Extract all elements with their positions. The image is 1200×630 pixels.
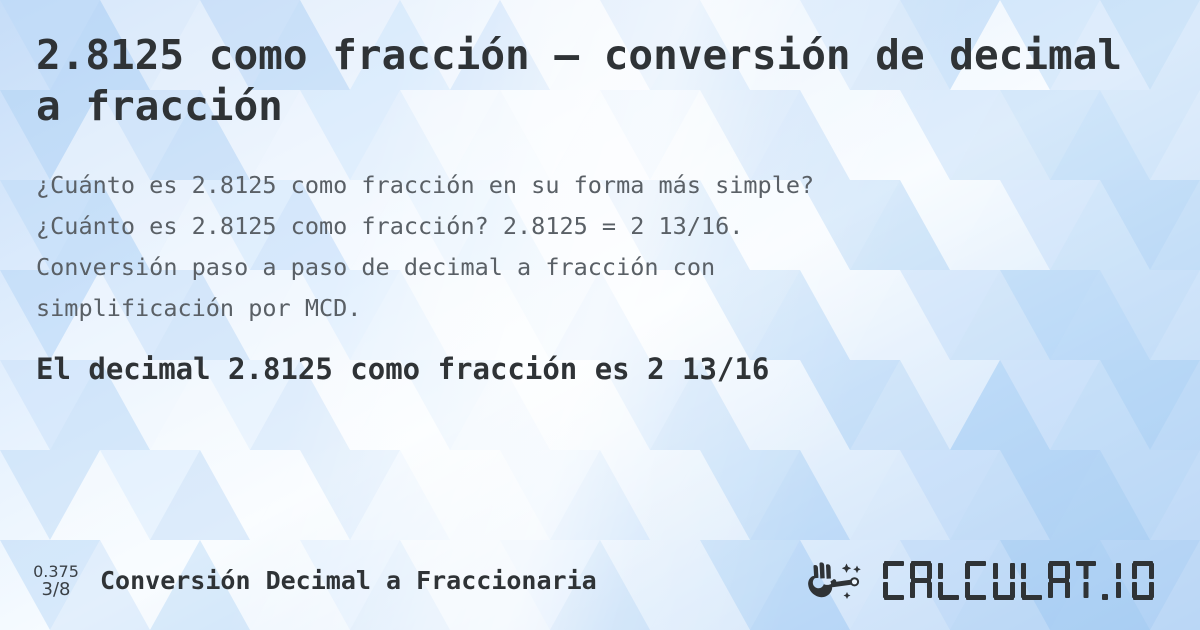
brand-logo[interactable]: CALCULAT.IO (806, 559, 1182, 603)
og-image-card: 2.8125 como fracción – conversión de dec… (0, 0, 1200, 630)
footer-label: Conversión Decimal a Fraccionaria (100, 566, 597, 595)
content-area: 2.8125 como fracción – conversión de dec… (0, 0, 1200, 630)
description-line-1: ¿Cuánto es 2.8125 como fracción en su fo… (36, 171, 814, 199)
fraction-icon-decimal: 0.375 (33, 563, 79, 580)
description-line-2: ¿Cuánto es 2.8125 como fracción? 2.8125 … (36, 212, 743, 240)
page-description: ¿Cuánto es 2.8125 como fracción en su fo… (36, 165, 1096, 330)
page-title: 2.8125 como fracción – conversión de dec… (36, 30, 1126, 133)
decimal-fraction-icon: 0.375 3/8 (26, 563, 86, 600)
answer-statement: El decimal 2.8125 como fracción es 2 13/… (36, 351, 1164, 389)
brand-wordmark-segments (882, 560, 1172, 602)
footer: 0.375 3/8 Conversión Decimal a Fracciona… (0, 554, 1200, 608)
magic-wand-hand-icon (806, 559, 878, 603)
footer-left-group: 0.375 3/8 Conversión Decimal a Fracciona… (26, 563, 597, 600)
description-line-3: Conversión paso a paso de decimal a frac… (36, 253, 715, 281)
fraction-icon-fraction: 3/8 (42, 580, 71, 599)
description-line-4: simplificación por MCD. (36, 294, 361, 322)
brand-wordmark: CALCULAT.IO (882, 560, 1172, 602)
